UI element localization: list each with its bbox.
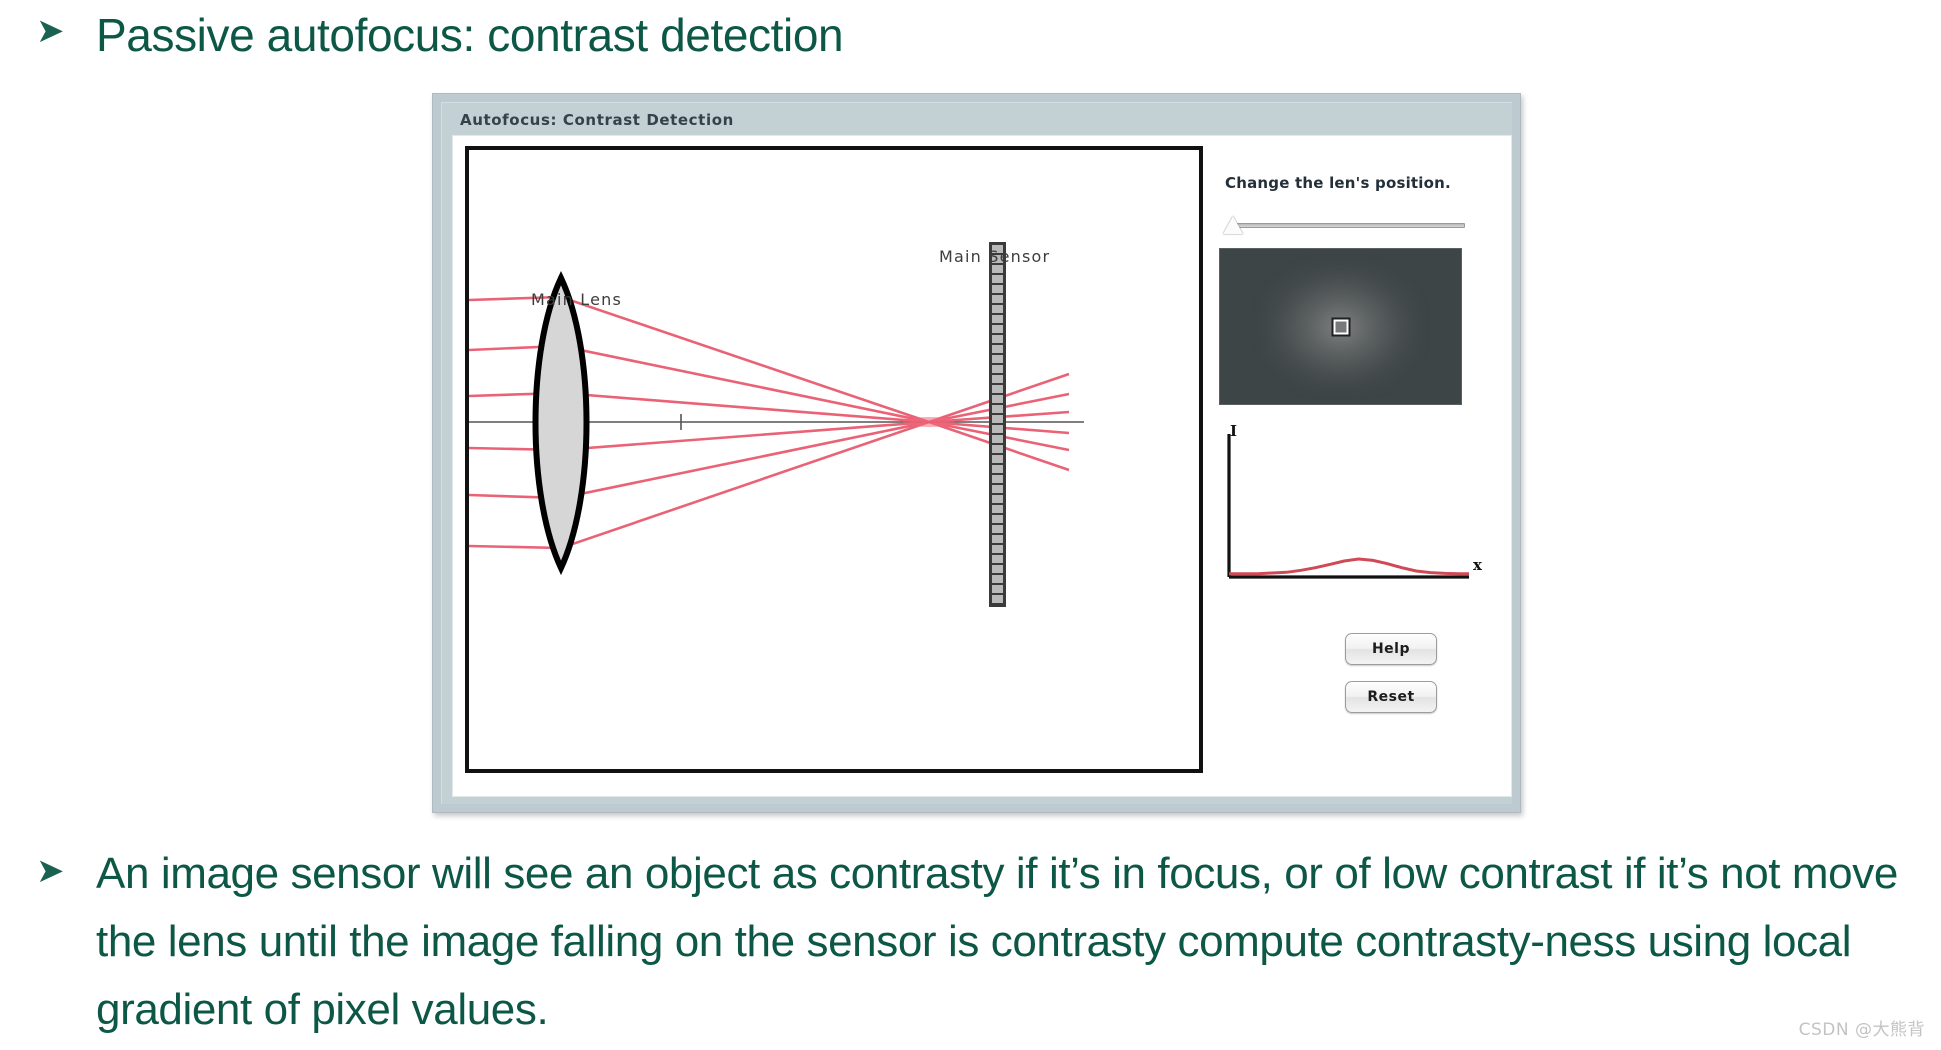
focal-point-glow <box>903 417 955 427</box>
slider-thumb[interactable] <box>1223 216 1243 234</box>
x-axis-label: x <box>1473 556 1482 574</box>
body-paragraph: An image sensor will see an object as co… <box>96 840 1936 1044</box>
main-lens-label: Main Lens <box>531 290 622 309</box>
optical-diagram-svg <box>469 150 1199 769</box>
body-bullet-row: ➤ An image sensor will see an object as … <box>36 840 1936 1044</box>
watermark: CSDN @大熊背 <box>1799 1015 1925 1040</box>
autofocus-point-icon[interactable] <box>1333 319 1348 334</box>
reset-button[interactable]: Reset <box>1345 681 1437 713</box>
main-lens-shape[interactable] <box>536 278 587 568</box>
intensity-curve <box>1229 559 1469 574</box>
optical-diagram-panel[interactable]: Main Lens Main Sensor <box>465 146 1203 773</box>
page-title: Passive autofocus: contrast detection <box>96 6 843 64</box>
lens-position-slider[interactable] <box>1221 214 1466 236</box>
applet-title: Autofocus: Contrast Detection <box>460 111 734 129</box>
slider-track[interactable] <box>1235 223 1465 228</box>
applet-canvas: Main Lens Main Sensor Change the len's p… <box>452 135 1512 797</box>
bullet-arrow-icon: ➤ <box>36 854 96 888</box>
applet-inner-frame: Autofocus: Contrast Detection <box>441 102 1512 804</box>
autofocus-applet-window: Autofocus: Contrast Detection <box>432 93 1521 813</box>
y-axis-label: I <box>1230 422 1237 440</box>
intensity-plot-svg <box>1215 422 1495 602</box>
main-sensor-label: Main Sensor <box>939 247 1050 266</box>
bullet-arrow-icon: ➤ <box>36 14 96 48</box>
main-sensor-strip[interactable] <box>989 242 1006 607</box>
title-bullet-row: ➤ Passive autofocus: contrast detection <box>36 6 843 64</box>
help-button[interactable]: Help <box>1345 633 1437 665</box>
slide-root: ➤ Passive autofocus: contrast detection … <box>0 0 1941 1050</box>
sensor-preview-image[interactable] <box>1219 248 1462 405</box>
slider-label: Change the len's position. <box>1225 174 1451 192</box>
intensity-profile-chart: I x <box>1215 422 1495 602</box>
control-panel: Change the len's position. I x <box>1215 146 1503 786</box>
button-stack: Help Reset <box>1345 633 1437 713</box>
